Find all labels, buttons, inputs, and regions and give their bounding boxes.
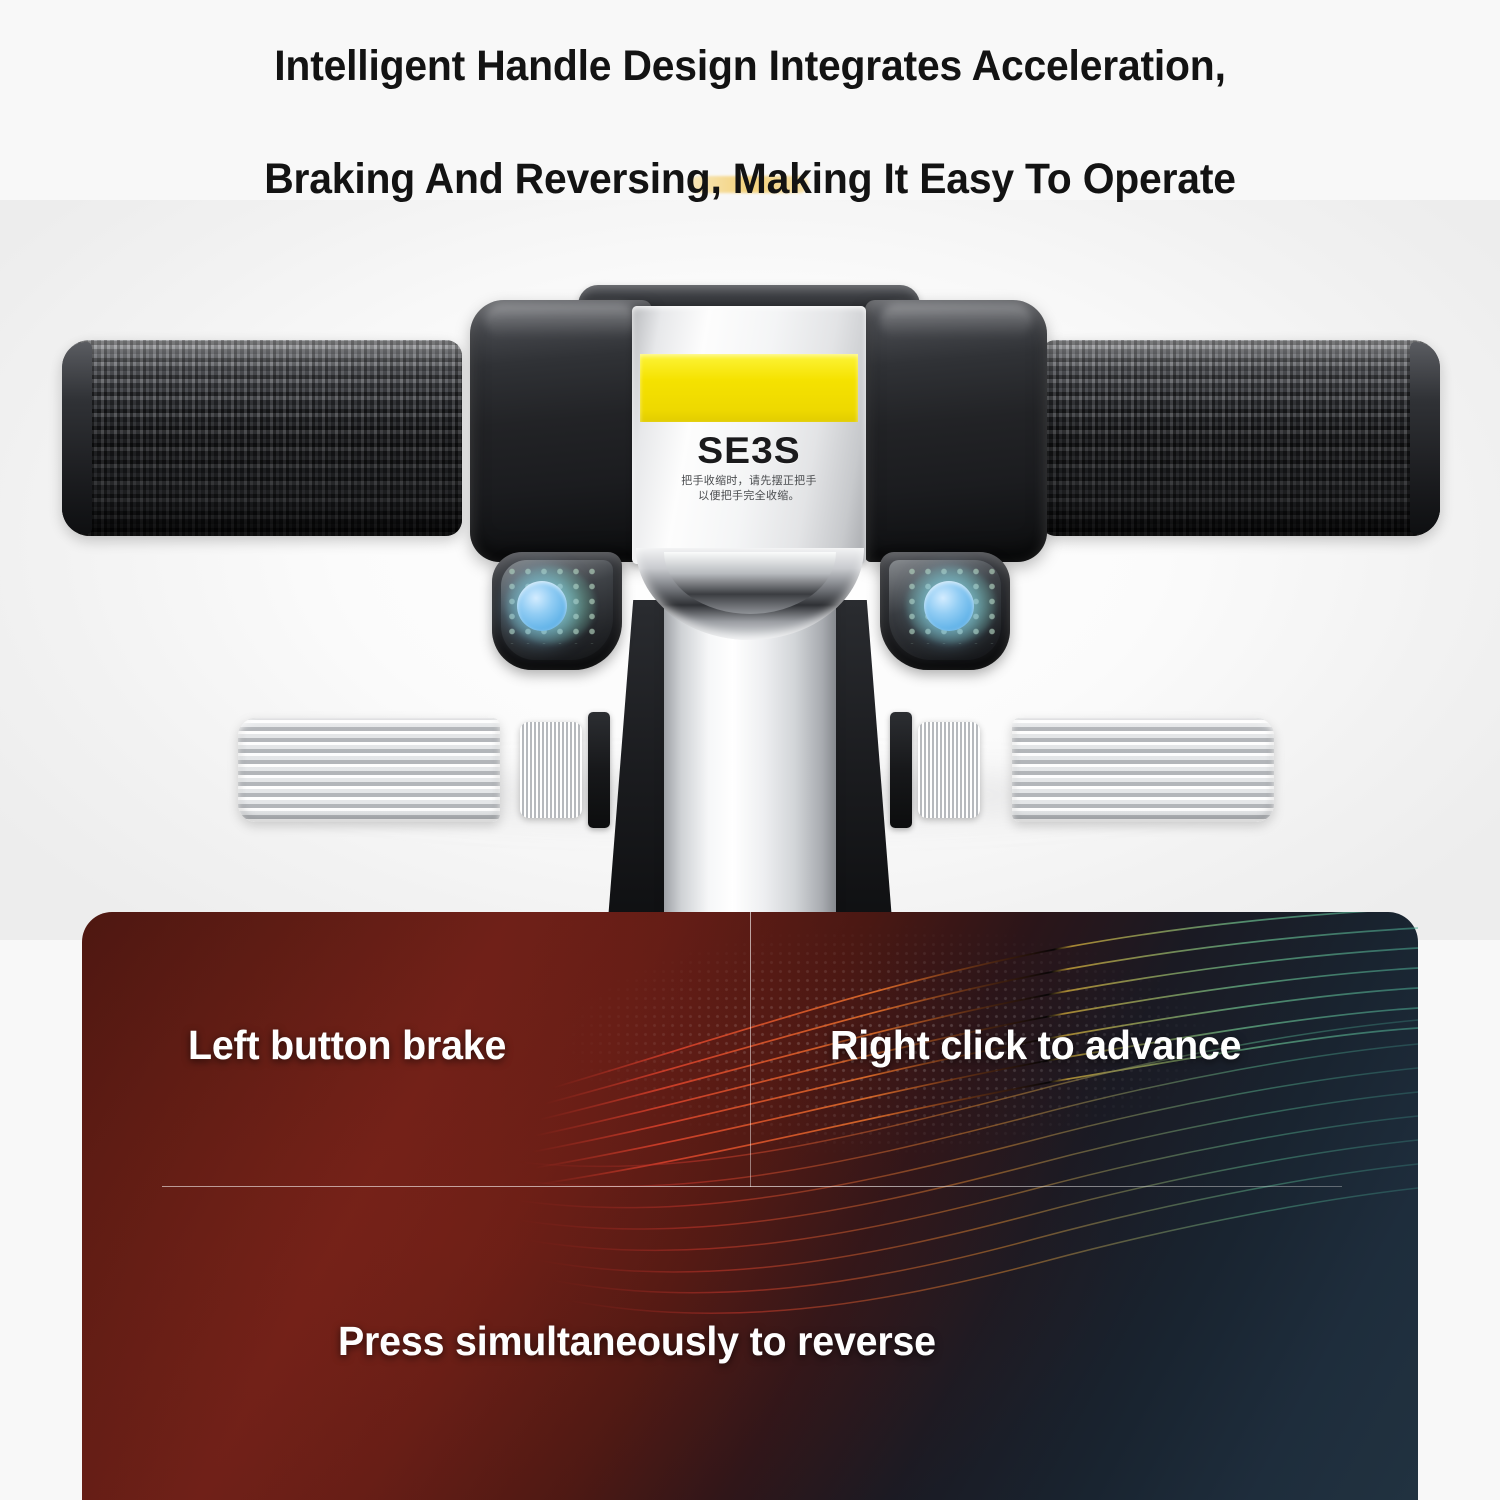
scooter-stem-column bbox=[664, 596, 836, 926]
handlebar-grip-right bbox=[1040, 340, 1440, 536]
brand-note-line-2: 以便把手完全收缩。 bbox=[632, 489, 866, 504]
handlebar-center-panel: SE3S 把手收缩时，请先摆正把手 以便把手完全收缩。 bbox=[632, 306, 866, 564]
console-gloss-left bbox=[485, 304, 638, 338]
brand-logo-text: SE3S bbox=[632, 430, 866, 472]
yellow-accent-band bbox=[640, 354, 858, 422]
label-left-button-brake: Left button brake bbox=[188, 1022, 506, 1069]
thumb-button-pod-left[interactable] bbox=[492, 552, 622, 670]
grip-shading-left bbox=[62, 340, 462, 536]
panel-divider-horizontal bbox=[162, 1186, 1342, 1187]
control-console-right bbox=[865, 300, 1047, 562]
console-gloss-right bbox=[880, 304, 1033, 338]
grip-endcap-left bbox=[62, 342, 92, 534]
headline-line-2: Braking And Reversing, Making It Easy To… bbox=[38, 123, 1463, 236]
grip-shading-right bbox=[1040, 340, 1440, 536]
grip-endcap-right bbox=[1410, 342, 1440, 534]
brand-note-line-1: 把手收缩时，请先摆正把手 bbox=[632, 474, 866, 489]
thumb-button-pod-right[interactable] bbox=[880, 552, 1010, 670]
lever-washer-right bbox=[890, 712, 912, 828]
lever-knurled-collar-right bbox=[918, 722, 980, 818]
brand-instruction-note: 把手收缩时，请先摆正把手 以便把手完全收缩。 bbox=[632, 474, 866, 504]
headline-block: Intelligent Handle Design Integrates Acc… bbox=[0, 10, 1500, 200]
control-console-left bbox=[470, 300, 652, 562]
lever-knurled-collar-left bbox=[520, 722, 582, 818]
advance-button-led-right[interactable] bbox=[924, 581, 974, 631]
brake-button-led-left[interactable] bbox=[517, 581, 567, 631]
panel-divider-vertical bbox=[750, 912, 751, 1187]
lever-washer-left bbox=[588, 712, 610, 828]
folding-lever-left[interactable] bbox=[238, 718, 500, 822]
label-press-simultaneously-reverse: Press simultaneously to reverse bbox=[338, 1318, 936, 1365]
folding-lever-right[interactable] bbox=[1012, 718, 1274, 822]
headline-line-1: Intelligent Handle Design Integrates Acc… bbox=[38, 10, 1463, 123]
handlebar-grip-left bbox=[62, 340, 462, 536]
label-right-click-advance: Right click to advance bbox=[830, 1022, 1241, 1069]
